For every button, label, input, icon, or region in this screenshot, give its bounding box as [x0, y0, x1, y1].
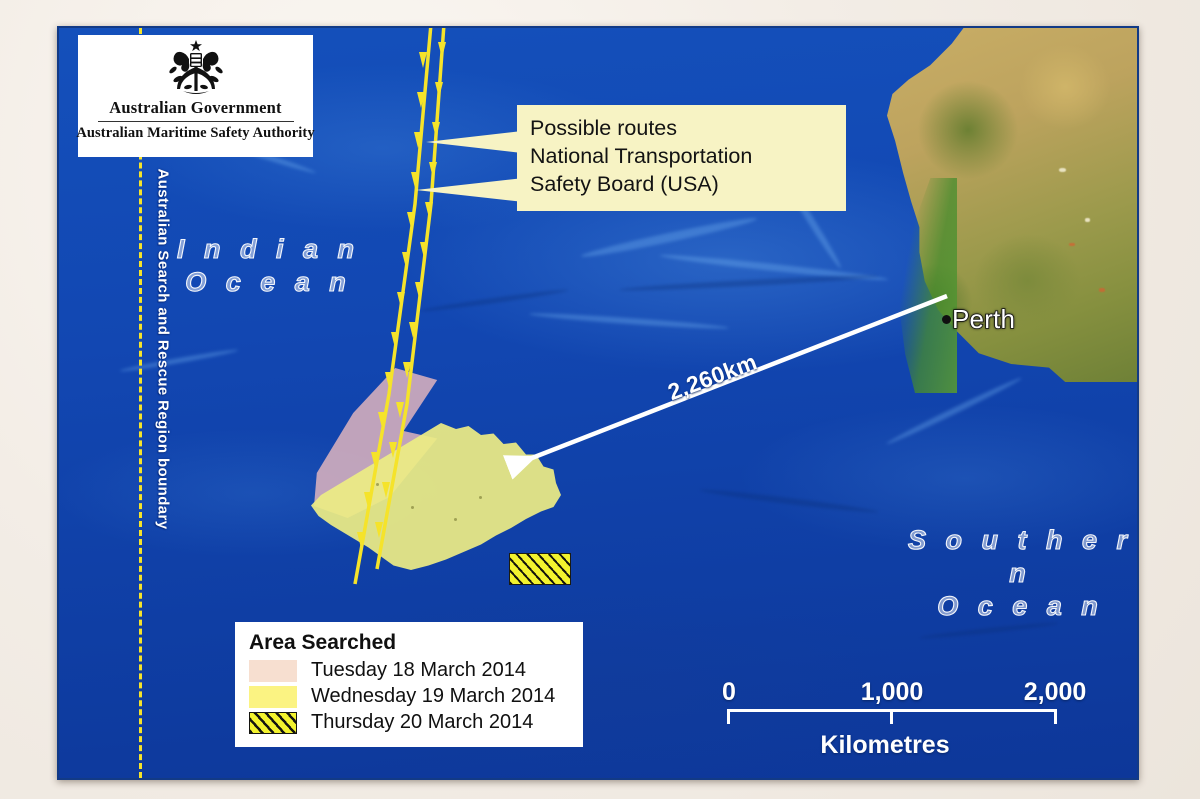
logo-government-text: Australian Government: [109, 98, 281, 118]
scale-tick-2000: 2,000: [1024, 678, 1087, 707]
city-label-perth: Perth: [952, 304, 1015, 335]
scale-tick-1000: 1,000: [861, 678, 924, 707]
amsa-logo-block: Australian Government Australian Maritim…: [78, 35, 313, 157]
callout-possible-routes: Possible routes National Transportation …: [517, 105, 846, 211]
map-plate: Australian Search and Rescue Region boun…: [57, 26, 1139, 780]
scale-tickmark-2000: [1054, 709, 1057, 724]
scale-caption: Kilometres: [719, 731, 1071, 760]
logo-agency-text: Australian Maritime Safety Authority: [76, 125, 314, 142]
legend-label-thursday: Thursday 20 March 2014: [311, 711, 533, 734]
callout-pointer-lower: [416, 178, 524, 202]
legend-swatch-thursday: [249, 712, 297, 734]
scale-tickmark-0: [727, 709, 730, 724]
scale-tick-0: 0: [722, 678, 736, 707]
legend-swatch-wednesday: [249, 686, 297, 708]
scale-tickmark-1000: [890, 709, 893, 724]
legend-panel: Area Searched Tuesday 18 March 2014 Wedn…: [235, 622, 583, 747]
callout-pointer-upper: [426, 131, 522, 153]
logo-divider: [98, 121, 294, 122]
scale-tick-labels: 0 1,000 2,000: [719, 678, 1071, 708]
scale-bar: 0 1,000 2,000 Kilometres: [719, 678, 1071, 760]
city-dot-icon: [942, 315, 951, 324]
city-marker-perth[interactable]: Perth: [942, 304, 1015, 335]
legend-label-tuesday: Tuesday 18 March 2014: [311, 659, 526, 682]
scale-rule: [719, 709, 1071, 725]
legend-item-tuesday: Tuesday 18 March 2014: [249, 659, 571, 682]
legend-item-thursday: Thursday 20 March 2014: [249, 711, 571, 734]
legend-label-wednesday: Wednesday 19 March 2014: [311, 685, 555, 708]
legend-swatch-tuesday: [249, 660, 297, 682]
legend-item-wednesday: Wednesday 19 March 2014: [249, 685, 571, 708]
australian-coat-of-arms-icon: [159, 39, 233, 97]
legend-title: Area Searched: [249, 631, 571, 655]
